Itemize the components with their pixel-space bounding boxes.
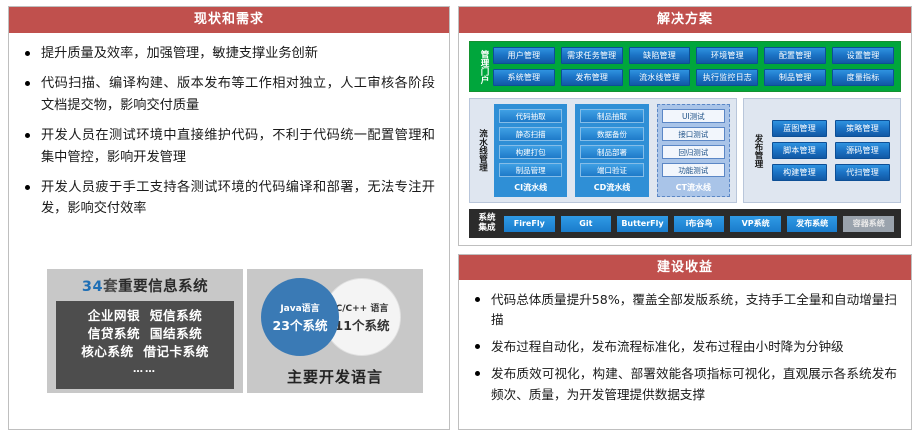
pipeline-stage[interactable]: 制品管理: [499, 163, 562, 177]
pipeline-stage[interactable]: 代码抽取: [499, 109, 562, 123]
pipeline-stage[interactable]: 端口验证: [580, 163, 643, 177]
venn-diagram: C/C++ 语言 11个系统 Java语言 23个系统: [261, 278, 411, 356]
release-button[interactable]: 源码管理: [835, 142, 890, 159]
portal-button[interactable]: 用户管理: [493, 47, 555, 64]
panel-benefit: 建设收益 代码总体质量提升58%，覆盖全部发版系统，支持手工全量和自动增量扫描 …: [458, 254, 912, 430]
pipeline-stage[interactable]: 数据备份: [580, 127, 643, 141]
release-button[interactable]: 策略管理: [835, 120, 890, 137]
pipeline-column-ct: UI测试 接口测试 回归测试 功能测试 CT流水线: [657, 104, 730, 197]
pipeline-columns: 代码抽取 静态扫描 构建打包 制品管理 CI流水线 制品抽取 数据备份 制品部署: [494, 104, 730, 197]
panel-current-situation: 现状和需求 提升质量及效率，加强管理，敏捷支撑业务创新 代码扫描、编译构建、版本…: [8, 6, 450, 430]
portal-button[interactable]: 缺陷管理: [629, 47, 691, 64]
release-management-block: 发布管理 蓝图管理 策略管理 脚本管理 源码管理 构建管理 代扫管理: [743, 98, 901, 203]
benefit-bullet-list: 代码总体质量提升58%，覆盖全部发版系统，支持手工全量和自动增量扫描 发布过程自…: [473, 290, 897, 405]
portal-button[interactable]: 发布管理: [561, 69, 623, 86]
release-button[interactable]: 代扫管理: [835, 164, 890, 181]
pipeline-column-name: CT流水线: [662, 181, 725, 193]
panel-benefit-title: 建设收益: [459, 255, 911, 280]
panel-solution-body: 管理门户 用户管理 需求任务管理 缺陷管理 环境管理 配置管理 设置管理 系统管…: [459, 33, 911, 246]
pipeline-release-row: 流水线管理 代码抽取 静态扫描 构建打包 制品管理 CI流水线 制品抽取: [469, 98, 901, 203]
pipeline-stage[interactable]: UI测试: [662, 109, 725, 123]
system-name-row: 信贷系统 国结系统: [88, 325, 203, 343]
list-item: 发布质效可视化，构建、部署效能各项指标可视化，直观展示各系统发布频次、质量，为开…: [473, 364, 897, 404]
venn-java-label: Java语言: [280, 301, 319, 314]
venn-cpp-label: C/C++ 语言: [336, 301, 389, 314]
venn-caption: 主要开发语言: [247, 366, 423, 387]
slide-canvas: 现状和需求 提升质量及效率，加强管理，敏捷支撑业务创新 代码扫描、编译构建、版本…: [0, 0, 919, 436]
release-button[interactable]: 构建管理: [772, 164, 827, 181]
pipeline-column-cd: 制品抽取 数据备份 制品部署 端口验证 CD流水线: [575, 104, 648, 197]
pipeline-stage[interactable]: 回归测试: [662, 145, 725, 159]
important-systems-label: 重要信息系统: [118, 279, 208, 295]
integration-item[interactable]: 容器系统: [843, 216, 894, 232]
portal-button[interactable]: 设置管理: [832, 47, 894, 64]
system-name-ellipsis: ……: [133, 364, 157, 375]
panel-benefit-body: 代码总体质量提升58%，覆盖全部发版系统，支持手工全量和自动增量扫描 发布过程自…: [459, 280, 911, 405]
pipeline-stage[interactable]: 静态扫描: [499, 127, 562, 141]
portal-button[interactable]: 执行监控日志: [696, 69, 758, 86]
list-item: 发布过程自动化，发布流程标准化，发布过程由小时降为分钟级: [473, 337, 897, 357]
portal-button[interactable]: 制品管理: [764, 69, 826, 86]
list-item: 代码总体质量提升58%，覆盖全部发版系统，支持手工全量和自动增量扫描: [473, 290, 897, 330]
system-integration-label: 系统集成: [476, 214, 498, 233]
integration-item[interactable]: 发布系统: [787, 216, 838, 232]
management-portal-grid: 用户管理 需求任务管理 缺陷管理 环境管理 配置管理 设置管理 系统管理 发布管…: [493, 47, 894, 86]
system-name-row: 核心系统 借记卡系统: [81, 343, 209, 361]
portal-button[interactable]: 流水线管理: [629, 69, 691, 86]
stats-strip: 34套重要信息系统 企业网银 短信系统 信贷系统 国结系统 核心系统 借记卡系统…: [47, 269, 423, 393]
list-item: 开发人员在测试环境中直接维护代码，不利于代码统一配置管理和集中管控，影响开发管理: [23, 125, 435, 168]
portal-button[interactable]: 度量指标: [832, 69, 894, 86]
system-name-row: 企业网银 短信系统: [88, 307, 203, 325]
venn-circle-java: Java语言 23个系统: [261, 278, 339, 356]
pipeline-management-label: 流水线管理: [476, 104, 488, 197]
current-situation-bullet-list: 提升质量及效率，加强管理，敏捷支撑业务创新 代码扫描、编译构建、版本发布等工作相…: [23, 43, 435, 220]
pipeline-stage[interactable]: 构建打包: [499, 145, 562, 159]
system-name-box: 企业网银 短信系统 信贷系统 国结系统 核心系统 借记卡系统 ……: [56, 301, 234, 389]
system-count-unit: 套: [103, 279, 118, 295]
release-button[interactable]: 蓝图管理: [772, 120, 827, 137]
list-item: 提升质量及效率，加强管理，敏捷支撑业务创新: [23, 43, 435, 64]
panel-solution: 解决方案 管理门户 用户管理 需求任务管理 缺陷管理 环境管理 配置管理 设置管…: [458, 6, 912, 246]
pipeline-column-name: CD流水线: [580, 181, 643, 193]
release-management-label: 发布管理: [750, 134, 762, 168]
list-item: 开发人员疲于手工支持各测试环境的代码编译和部署，无法专注开发，影响交付效率: [23, 177, 435, 220]
integration-item[interactable]: Git: [561, 216, 612, 232]
panel-current-situation-body: 提升质量及效率，加强管理，敏捷支撑业务创新 代码扫描、编译构建、版本发布等工作相…: [9, 33, 449, 220]
system-integration-list: FireFly Git ButterFly i布谷鸟 VP系统 发布系统 容器系…: [504, 216, 894, 232]
pipeline-stage[interactable]: 制品抽取: [580, 109, 643, 123]
important-systems-title: 34套重要信息系统: [82, 275, 208, 296]
important-systems-card: 34套重要信息系统 企业网银 短信系统 信贷系统 国结系统 核心系统 借记卡系统…: [47, 269, 243, 393]
integration-item[interactable]: FireFly: [504, 216, 555, 232]
panel-current-situation-title: 现状和需求: [9, 7, 449, 33]
panel-solution-title: 解决方案: [459, 7, 911, 33]
integration-item[interactable]: i布谷鸟: [674, 216, 725, 232]
venn-java-count: 23个系统: [273, 315, 328, 334]
release-button[interactable]: 脚本管理: [772, 142, 827, 159]
pipeline-stage[interactable]: 功能测试: [662, 163, 725, 177]
language-venn-card: C/C++ 语言 11个系统 Java语言 23个系统 主要开发语言: [247, 269, 423, 393]
pipeline-column-name: CI流水线: [499, 181, 562, 193]
portal-button[interactable]: 需求任务管理: [561, 47, 623, 64]
management-portal-label: 管理门户: [476, 50, 488, 84]
pipeline-column-ci: 代码抽取 静态扫描 构建打包 制品管理 CI流水线: [494, 104, 567, 197]
portal-button[interactable]: 环境管理: [696, 47, 758, 64]
portal-button[interactable]: 配置管理: [764, 47, 826, 64]
integration-item[interactable]: ButterFly: [617, 216, 668, 232]
list-item: 代码扫描、编译构建、版本发布等工作相对独立，人工审核各阶段文档提交物，影响交付质…: [23, 73, 435, 116]
release-management-grid: 蓝图管理 策略管理 脚本管理 源码管理 构建管理 代扫管理: [768, 120, 894, 181]
pipeline-stage[interactable]: 接口测试: [662, 127, 725, 141]
venn-cpp-count: 11个系统: [335, 315, 390, 334]
pipeline-management-block: 流水线管理 代码抽取 静态扫描 构建打包 制品管理 CI流水线 制品抽取: [469, 98, 737, 203]
pipeline-stage[interactable]: 制品部署: [580, 145, 643, 159]
system-integration-block: 系统集成 FireFly Git ButterFly i布谷鸟 VP系统 发布系…: [469, 209, 901, 238]
system-count-value: 34: [82, 279, 103, 295]
management-portal-block: 管理门户 用户管理 需求任务管理 缺陷管理 环境管理 配置管理 设置管理 系统管…: [469, 41, 901, 92]
integration-item[interactable]: VP系统: [730, 216, 781, 232]
architecture-diagram: 管理门户 用户管理 需求任务管理 缺陷管理 环境管理 配置管理 设置管理 系统管…: [469, 41, 901, 238]
portal-button[interactable]: 系统管理: [493, 69, 555, 86]
